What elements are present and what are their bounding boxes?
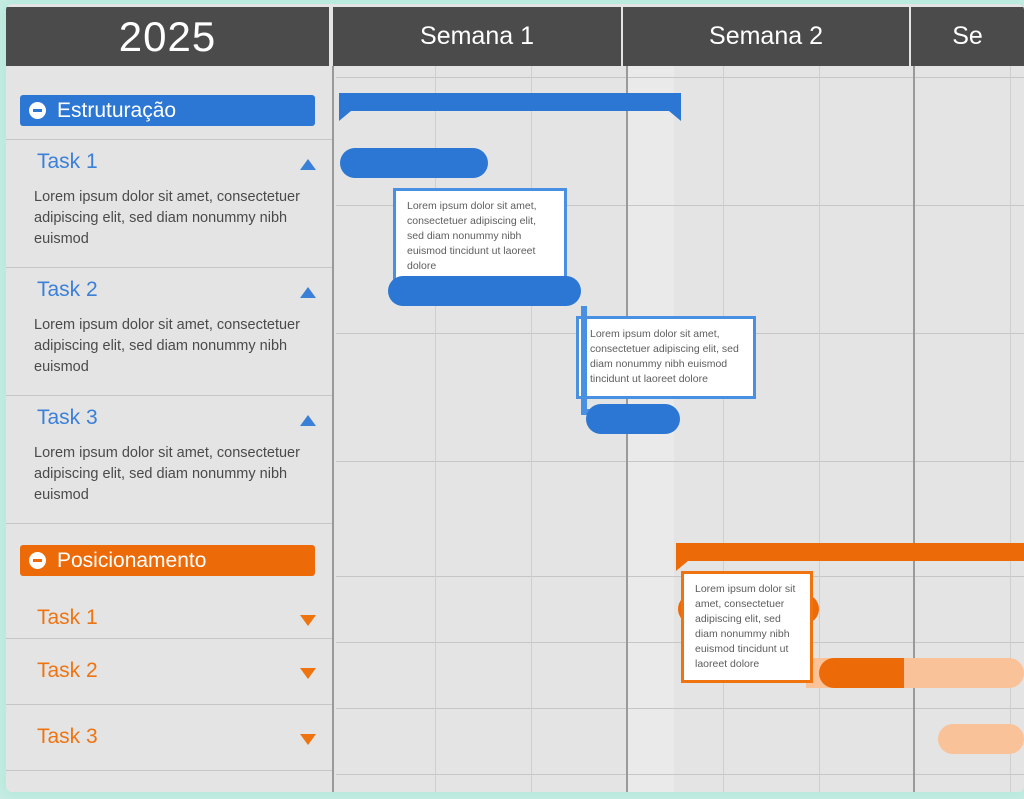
gantt-frame: 2025 Semana 1 Semana 2 Se Estruturação T…	[6, 4, 1024, 792]
task-row-posicionamento-3[interactable]: Task 3	[6, 704, 334, 770]
task-title: Task 2	[37, 659, 98, 683]
task-title: Task 3	[37, 725, 98, 749]
task-callout-estruturacao-2: Lorem ipsum dolor sit amet, consectetuer…	[576, 316, 756, 399]
task-row-estruturacao-2[interactable]: Task 2 Lorem ipsum dolor sit amet, conse…	[6, 267, 334, 395]
chevron-up-icon[interactable]	[300, 287, 316, 298]
chevron-down-icon[interactable]	[300, 668, 316, 679]
header-week-1[interactable]: Semana 1	[333, 7, 621, 66]
callout-text: Lorem ipsum dolor sit amet, consectetuer…	[407, 200, 537, 272]
group-header-posicionamento[interactable]: Posicionamento	[20, 545, 315, 576]
chevron-down-icon[interactable]	[300, 615, 316, 626]
task-bar-posicionamento-3[interactable]	[938, 724, 1024, 754]
grid-hline	[336, 576, 1024, 577]
task-title: Task 1	[37, 606, 98, 630]
callout-text: Lorem ipsum dolor sit amet, consectetuer…	[590, 328, 739, 385]
row-divider	[6, 523, 334, 524]
header-week-3[interactable]: Se	[911, 7, 1024, 66]
group-label: Estruturação	[57, 99, 176, 123]
grid-hline	[336, 461, 1024, 462]
task-callout-estruturacao-1: Lorem ipsum dolor sit amet, consectetuer…	[393, 188, 567, 286]
week-3-label: Se	[952, 22, 983, 51]
grid-vline	[531, 66, 532, 792]
task-row-posicionamento-2[interactable]: Task 2	[6, 638, 334, 704]
task-row-estruturacao-3[interactable]: Task 3 Lorem ipsum dolor sit amet, conse…	[6, 395, 334, 523]
header-week-2[interactable]: Semana 2	[623, 7, 909, 66]
task-title: Task 1	[37, 150, 98, 174]
group-header-estruturacao[interactable]: Estruturação	[20, 95, 315, 126]
task-description: Lorem ipsum dolor sit amet, consectetuer…	[34, 315, 314, 378]
gantt-chart-app: 2025 Semana 1 Semana 2 Se Estruturação T…	[0, 0, 1024, 799]
summary-flag-left-icon	[676, 561, 688, 571]
timeline-header: 2025 Semana 1 Semana 2 Se	[6, 4, 1024, 66]
chevron-up-icon[interactable]	[300, 415, 316, 426]
task-bar-posicionamento-2[interactable]	[819, 658, 904, 688]
week-1-label: Semana 1	[420, 22, 534, 51]
grid-hline	[336, 77, 1024, 78]
task-title: Task 2	[37, 278, 98, 302]
collapse-minus-icon[interactable]	[29, 552, 46, 569]
chevron-up-icon[interactable]	[300, 159, 316, 170]
timeline-grid[interactable]: Lorem ipsum dolor sit amet, consectetuer…	[336, 66, 1024, 792]
task-bar-estruturacao-3[interactable]	[586, 404, 680, 434]
task-bar-estruturacao-2[interactable]	[388, 276, 581, 306]
chevron-down-icon[interactable]	[300, 734, 316, 745]
grid-hline	[336, 774, 1024, 775]
row-divider	[6, 770, 334, 771]
year-label: 2025	[119, 13, 216, 61]
week-2-label: Semana 2	[709, 22, 823, 51]
task-row-estruturacao-1[interactable]: Task 1 Lorem ipsum dolor sit amet, conse…	[6, 139, 334, 267]
header-year-cell: 2025	[6, 7, 329, 66]
summary-bar-posicionamento[interactable]	[676, 543, 1024, 561]
summary-flag-left-icon	[339, 111, 351, 121]
task-bar-estruturacao-1[interactable]	[340, 148, 488, 178]
task-description: Lorem ipsum dolor sit amet, consectetuer…	[34, 443, 314, 506]
dependency-line-vertical	[581, 306, 587, 411]
callout-text: Lorem ipsum dolor sit amet, consectetuer…	[695, 583, 795, 670]
summary-bar-estruturacao[interactable]	[339, 93, 681, 111]
collapse-minus-icon[interactable]	[29, 102, 46, 119]
grid-hline	[336, 708, 1024, 709]
task-title: Task 3	[37, 406, 98, 430]
task-list-panel: Estruturação Task 1 Lorem ipsum dolor si…	[6, 66, 334, 792]
task-callout-posicionamento-2: Lorem ipsum dolor sit amet, consectetuer…	[681, 571, 813, 683]
summary-flag-right-icon	[669, 111, 681, 121]
group-label: Posicionamento	[57, 549, 206, 573]
task-description: Lorem ipsum dolor sit amet, consectetuer…	[34, 187, 314, 250]
grid-hline	[336, 642, 1024, 643]
